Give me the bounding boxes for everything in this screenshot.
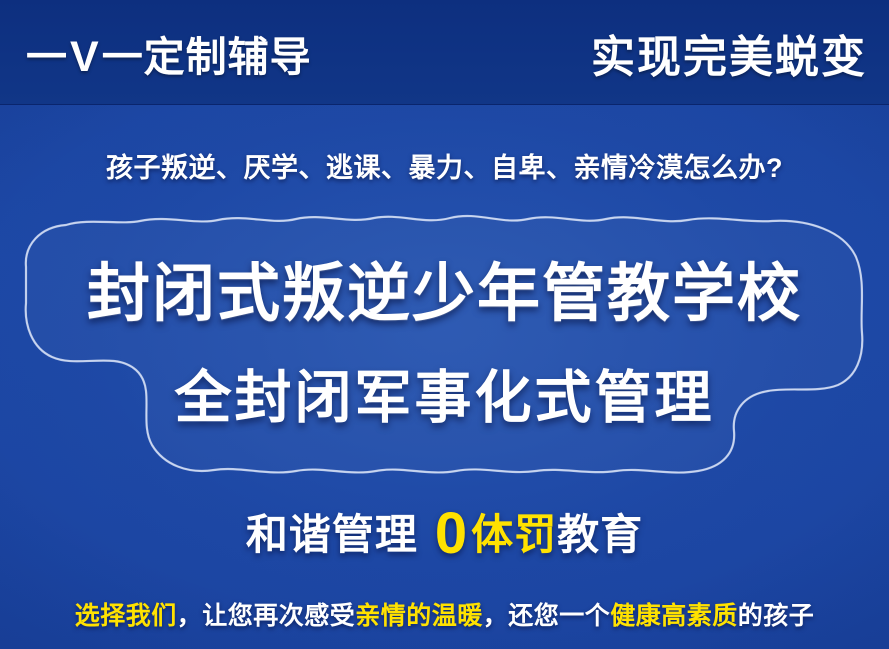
zero-digit: 0	[432, 501, 471, 566]
closing-seg-1: 选择我们	[75, 602, 177, 630]
header-band: 一V一定制辅导 实现完美蜕变	[0, 0, 889, 105]
zero-punishment-line: 和谐管理0体罚教育	[0, 500, 889, 567]
zero-line-part4: 教育	[557, 511, 643, 558]
closing-seg-5: 健康高素质	[610, 602, 738, 630]
closing-seg-3: 亲情的温暖	[355, 602, 483, 630]
header-v-mark: V	[68, 33, 102, 82]
header-tagline-right: 实现完美蜕变	[591, 21, 867, 85]
closing-seg-2: ，让您再次感受	[177, 602, 356, 630]
closing-slogan: 选择我们，让您再次感受亲情的温暖，还您一个健康高素质的孩子	[0, 596, 889, 632]
sub-question-text: 孩子叛逆、厌学、逃课、暴力、自卑、亲情冷漠怎么办?	[0, 146, 889, 185]
advertisement-banner: 一V一定制辅导 实现完美蜕变 孩子叛逆、厌学、逃课、暴力、自卑、亲情冷漠怎么办?…	[0, 0, 889, 649]
header-left-suffix: 一定制辅导	[102, 23, 312, 83]
zero-line-part3: 体罚	[471, 511, 557, 558]
closing-seg-6: 的孩子	[738, 602, 815, 630]
zero-line-part1: 和谐管理	[246, 511, 418, 558]
page-title: 封闭式叛逆少年管教学校	[0, 243, 889, 334]
header-left-prefix: 一	[26, 23, 68, 83]
page-subtitle: 全封闭军事化式管理	[0, 352, 889, 434]
header-tagline-left: 一V一定制辅导	[26, 23, 312, 83]
closing-seg-4: ，还您一个	[483, 602, 611, 630]
